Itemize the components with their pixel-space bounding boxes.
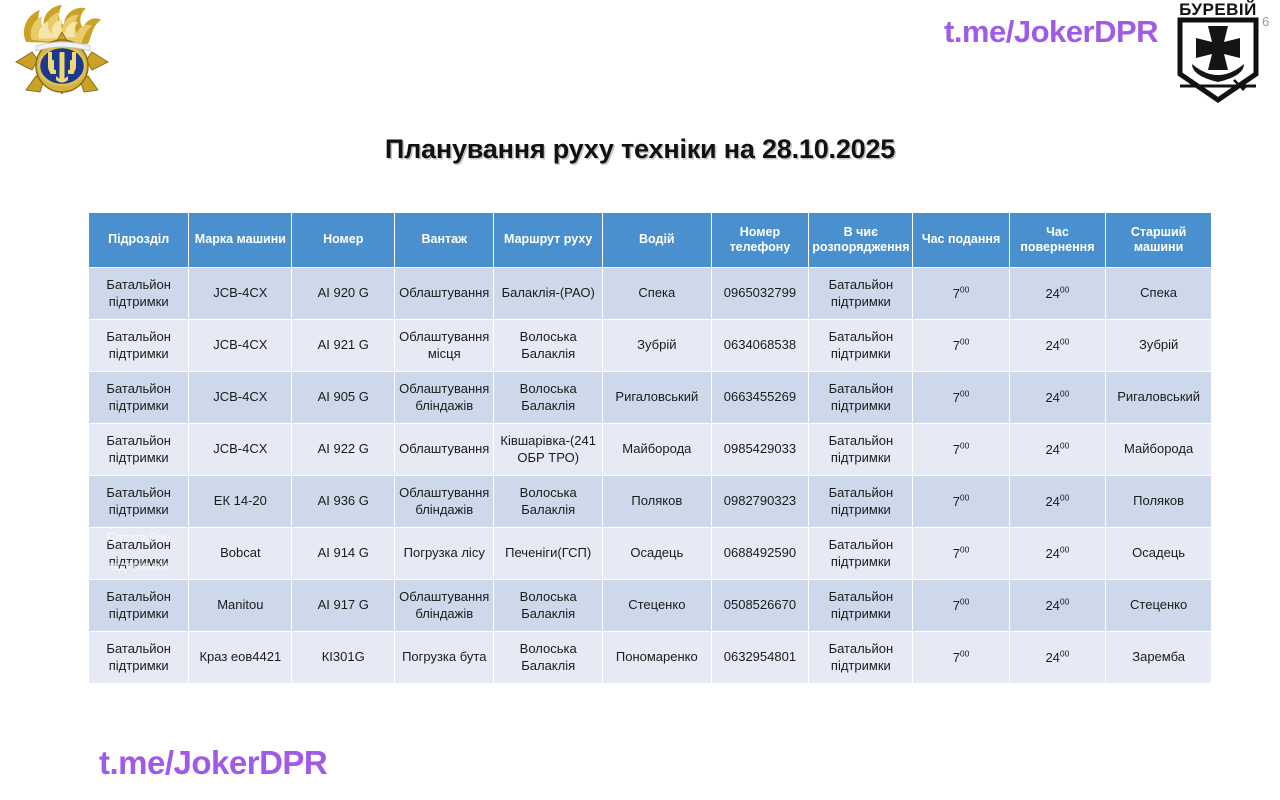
table-row: Батальйон підтримкиJCB-4CXAI 920 GОблашт… [89,268,1211,319]
cell-unit: Батальйон підтримки [89,632,188,683]
cell-assigned-to: Батальйон підтримки [809,580,912,631]
cell-time-depart: 700 [913,580,1008,631]
table-row: Батальйон підтримкиБатальйонпідтримкиBob… [89,528,1211,579]
table-row: Батальйон підтримкиManitouAI 917 GОблашт… [89,580,1211,631]
cell-time-return: 2400 [1010,476,1106,527]
cell-number: AI 917 G [292,580,394,631]
cell-phone: 0982790323 [712,476,809,527]
cell-route: Балаклія-(РАО) [494,268,602,319]
cell-assigned-to: Батальйон підтримки [809,372,912,423]
cell-unit: Батальйон підтримки [89,320,188,371]
cell-assigned-to: Батальйон підтримки [809,424,912,475]
cell-time-return: 2400 [1010,632,1106,683]
table-row: Батальйон підтримкиКраз еов4421КІ301GПог… [89,632,1211,683]
cell-route: Печеніги(ГСП) [494,528,602,579]
cell-phone: 0965032799 [712,268,809,319]
column-header-time-depart: Час подання [913,213,1008,267]
cell-cargo: Погрузка лісу [395,528,493,579]
cell-time-depart: 700 [913,528,1008,579]
cell-phone: 0688492590 [712,528,809,579]
cell-vehicle-brand: JCB-4CX [189,268,291,319]
column-header-phone: Номер телефону [712,213,809,267]
cell-assigned-to: Батальйон підтримки [809,320,912,371]
cell-time-depart: 700 [913,268,1008,319]
cell-cargo: Облаштування місця [395,320,493,371]
cell-driver: Спека [603,268,711,319]
cell-assigned-to: Батальйон підтримки [809,632,912,683]
table-header: Підрозділ Марка машини Номер Вантаж Марш… [89,213,1211,267]
cell-phone: 0508526670 [712,580,809,631]
cell-vehicle-brand: ЕК 14-20 [189,476,291,527]
cell-cargo: Облаштування бліндажів [395,580,493,631]
cell-phone: 0632954801 [712,632,809,683]
watermark-top: t.me/JokerDPR [944,14,1158,50]
ukraine-military-emblem-icon [6,2,118,94]
cell-senior: Осадець [1106,528,1211,579]
cell-driver: Стеценко [603,580,711,631]
table-row: Батальйон підтримкиJCB-4CXAI 922 GОблашт… [89,424,1211,475]
cell-route: Волоська Балаклія [494,476,602,527]
column-header-time-return: Час повернення [1010,213,1106,267]
cell-senior: Спека [1106,268,1211,319]
column-header-vehicle-brand: Марка машини [189,213,291,267]
cell-phone: 0663455269 [712,372,809,423]
svg-text:БУРЕВІЙ: БУРЕВІЙ [1179,0,1257,19]
cell-unit: Батальйон підтримки [89,580,188,631]
column-header-number: Номер [292,213,394,267]
cell-unit: Батальйон підтримки [89,372,188,423]
cell-vehicle-brand: Bobcat [189,528,291,579]
cell-driver: Поляков [603,476,711,527]
cell-cargo: Облаштування бліндажів [395,476,493,527]
cell-route: Волоська Балаклія [494,632,602,683]
cell-driver: Пономаренко [603,632,711,683]
column-header-unit: Підрозділ [89,213,188,267]
cell-senior: Заремба [1106,632,1211,683]
cell-cargo: Погрузка бута [395,632,493,683]
cell-time-return: 2400 [1010,580,1106,631]
cell-assigned-to: Батальйон підтримки [809,476,912,527]
cell-number: AI 922 G [292,424,394,475]
ghost-artifact-line1: Батальйон [89,530,188,547]
cell-cargo: Облаштування [395,268,493,319]
cell-assigned-to: Батальйон підтримки [809,268,912,319]
column-header-cargo: Вантаж [395,213,493,267]
cell-unit: Батальйон підтримки [89,476,188,527]
cell-number: AI 921 G [292,320,394,371]
cell-time-return: 2400 [1010,424,1106,475]
watermark-bottom: t.me/JokerDPR [99,744,327,782]
cell-senior: Зубрій [1106,320,1211,371]
table-row: Батальйон підтримкиJCB-4CXAI 905 GОблашт… [89,372,1211,423]
table-body: Батальйон підтримкиJCB-4CXAI 920 GОблашт… [89,268,1211,683]
cell-driver: Осадець [603,528,711,579]
column-header-route: Маршрут руху [494,213,602,267]
cell-vehicle-brand: Краз еов4421 [189,632,291,683]
cell-unit: Батальйон підтримкиБатальйонпідтримки [89,528,188,579]
cell-driver: Ригаловський [603,372,711,423]
cell-time-return: 2400 [1010,528,1106,579]
cell-time-depart: 700 [913,372,1008,423]
cell-route: Волоська Балаклія [494,320,602,371]
cell-time-depart: 700 [913,632,1008,683]
cell-senior: Стеценко [1106,580,1211,631]
cell-number: AI 914 G [292,528,394,579]
cell-number: AI 936 G [292,476,394,527]
column-header-driver: Водій [603,213,711,267]
page-number: 6 [1262,14,1269,29]
cell-number: КІ301G [292,632,394,683]
cell-vehicle-brand: JCB-4CX [189,424,291,475]
cell-cargo: Облаштування [395,424,493,475]
burevii-brigade-logo-icon: БУРЕВІЙ [1172,0,1264,104]
cell-route: Волоська Балаклія [494,372,602,423]
cell-vehicle-brand: JCB-4CX [189,372,291,423]
cell-driver: Зубрій [603,320,711,371]
table-row: Батальйон підтримкиЕК 14-20AI 936 GОблаш… [89,476,1211,527]
cell-vehicle-brand: JCB-4CX [189,320,291,371]
cell-time-return: 2400 [1010,320,1106,371]
column-header-assigned-to: В чиє розпорядження [809,213,912,267]
cell-time-return: 2400 [1010,268,1106,319]
cell-route: Волоська Балаклія [494,580,602,631]
cell-driver: Майборода [603,424,711,475]
cell-phone: 0634068538 [712,320,809,371]
cell-time-return: 2400 [1010,372,1106,423]
movement-planning-table: Підрозділ Марка машини Номер Вантаж Марш… [88,212,1212,684]
cell-phone: 0985429033 [712,424,809,475]
cell-time-depart: 700 [913,424,1008,475]
slide-page: БУРЕВІЙ 6 t.me/JokerDPR t.me/JokerDPR Пл… [0,0,1280,800]
cell-cargo: Облаштування бліндажів [395,372,493,423]
cell-senior: Майборода [1106,424,1211,475]
cell-assigned-to: Батальйон підтримки [809,528,912,579]
table-header-row: Підрозділ Марка машини Номер Вантаж Марш… [89,213,1211,267]
cell-unit: Батальйон підтримки [89,424,188,475]
cell-time-depart: 700 [913,320,1008,371]
ghost-artifact-line2: підтримки [89,558,188,575]
column-header-senior: Старший машини [1106,213,1211,267]
page-title: Планування руху техніки на 28.10.2025 [0,134,1280,165]
cell-unit: Батальйон підтримки [89,268,188,319]
cell-time-depart: 700 [913,476,1008,527]
cell-vehicle-brand: Manitou [189,580,291,631]
cell-number: AI 905 G [292,372,394,423]
cell-route: Ківшарівка-(241 ОБР ТРО) [494,424,602,475]
table-row: Батальйон підтримкиJCB-4CXAI 921 GОблашт… [89,320,1211,371]
cell-senior: Поляков [1106,476,1211,527]
cell-number: AI 920 G [292,268,394,319]
cell-senior: Ригаловський [1106,372,1211,423]
